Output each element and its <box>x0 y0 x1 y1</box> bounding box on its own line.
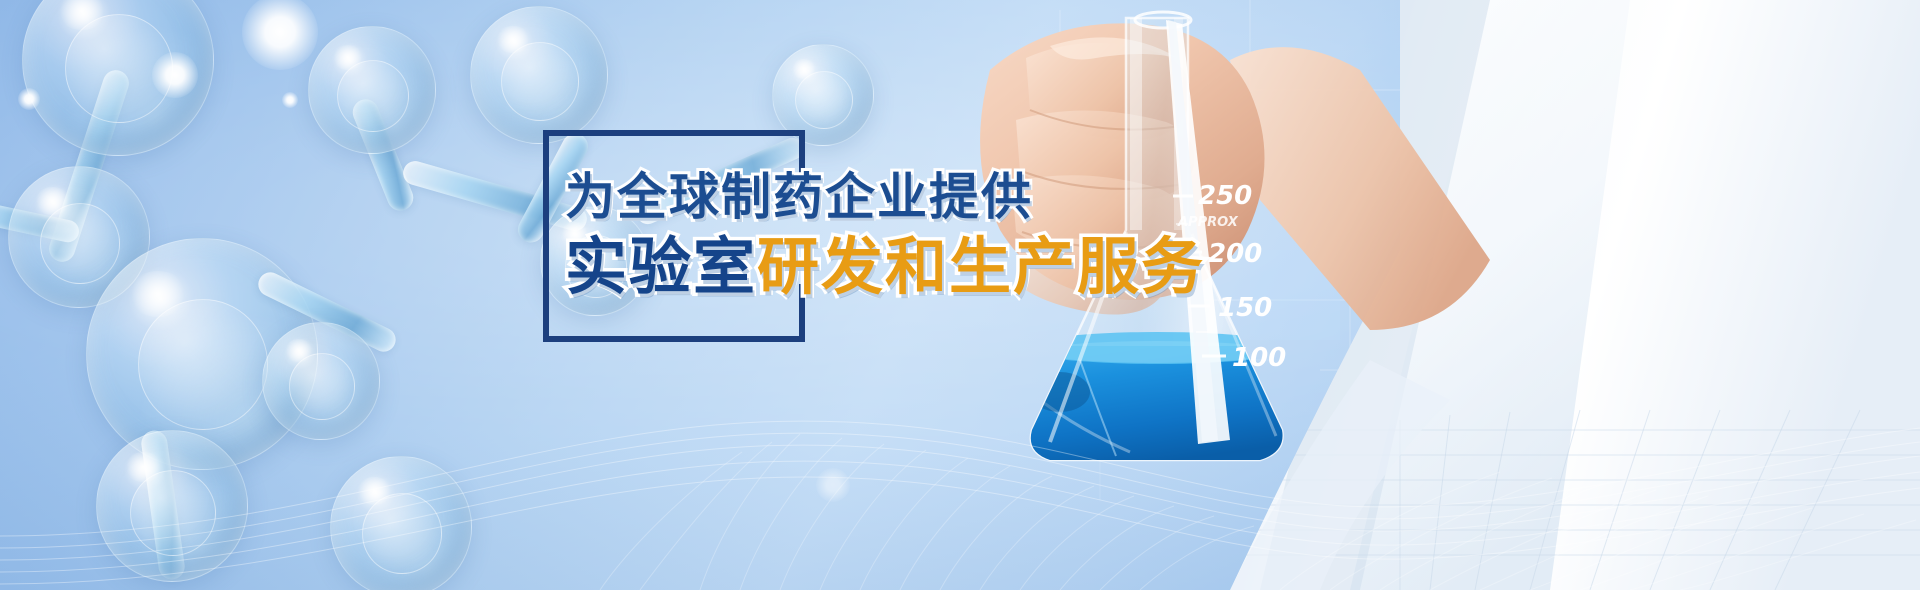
banner-hero: 250 200 150 100 APPROX <box>0 0 1920 590</box>
headline-line-2: 实验室研发和生产服务 <box>565 236 1385 298</box>
headline-line-2-gold: 研发和生产服务 <box>757 230 1205 303</box>
headline-line-2-blue: 实验室 <box>565 230 757 303</box>
bokeh-dot <box>152 52 198 98</box>
headline-block: 为全球制药企业提供 实验室研发和生产服务 <box>565 172 1385 298</box>
headline-line-1: 为全球制药企业提供 <box>565 172 1385 222</box>
bokeh-dot <box>18 88 40 110</box>
bokeh-dot <box>282 92 298 108</box>
wireframe-wave <box>0 360 1920 590</box>
